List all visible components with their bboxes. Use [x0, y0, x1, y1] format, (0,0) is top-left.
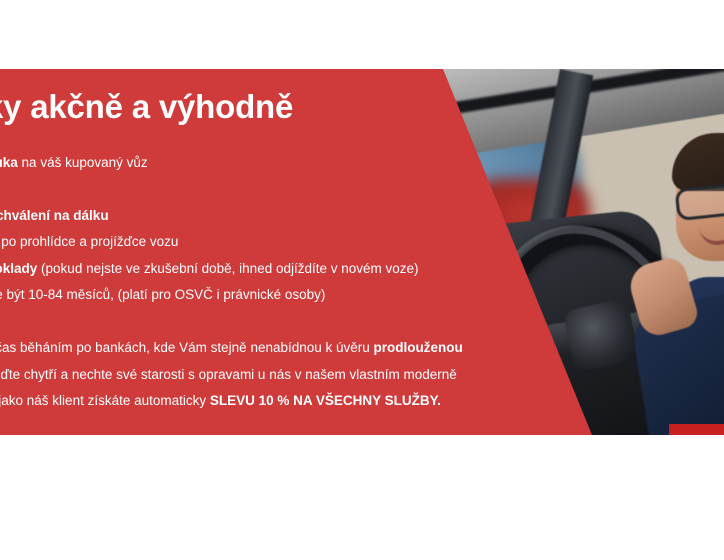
- list-item-text: tek může být 10-84 měsíců, (platí pro OS…: [0, 287, 325, 302]
- paragraph-text: vozu! Buďte chytří a nechte své starosti…: [0, 367, 457, 382]
- list-item: od 0 %: [0, 176, 548, 202]
- list-item-text: na váš kupovaný vůz: [18, 155, 148, 170]
- contact-us-button[interactable]: OZVĚTE: [669, 424, 724, 435]
- paragraph-line: isu, kde jako náš klient získáte automat…: [0, 388, 568, 415]
- list-item-text: (pokud nejste ve zkušební době, ihned od…: [37, 261, 418, 276]
- promo-banner: átky akčně a výhodně ená záruka na váš k…: [0, 69, 724, 435]
- list-item-lead: é předschválení na dálku: [0, 208, 109, 223]
- page-canvas: átky akčně a výhodně ená záruka na váš k…: [0, 0, 724, 560]
- banner-paragraph: ocenný čas běháním po bankách, kde Vám s…: [0, 335, 568, 415]
- list-item-lead: e dva doklady: [0, 261, 37, 276]
- list-item: é předschválení na dálku: [0, 203, 548, 229]
- list-item-text: louvy až po prohlídce a projížďce vozu: [0, 234, 178, 249]
- paragraph-text: ocenný čas běháním po bankách, kde Vám s…: [0, 340, 374, 355]
- benefit-list: ená záruka na váš kupovaný vůz od 0 % é …: [0, 150, 548, 308]
- paragraph-line: ocenný čas běháním po bankách, kde Vám s…: [0, 335, 568, 362]
- paragraph-text: isu, kde jako náš klient získáte automat…: [0, 393, 210, 408]
- list-item: ená záruka na váš kupovaný vůz: [0, 150, 548, 176]
- paragraph-emphasis: SLEVU 10 % NA VŠECHNY SLUŽBY.: [210, 393, 441, 408]
- list-item: louvy až po prohlídce a projížďce vozu: [0, 229, 548, 255]
- page-title: átky akčně a výhodně: [0, 90, 293, 123]
- paragraph-line: vozu! Buďte chytří a nechte své starosti…: [0, 362, 568, 389]
- list-item: e dva doklady (pokud nejste ve zkušební …: [0, 256, 548, 282]
- list-item-lead: ená záruka: [0, 155, 18, 170]
- list-item: tek může být 10-84 měsíců, (platí pro OS…: [0, 282, 548, 308]
- paragraph-emphasis: prodlouženou: [374, 340, 463, 355]
